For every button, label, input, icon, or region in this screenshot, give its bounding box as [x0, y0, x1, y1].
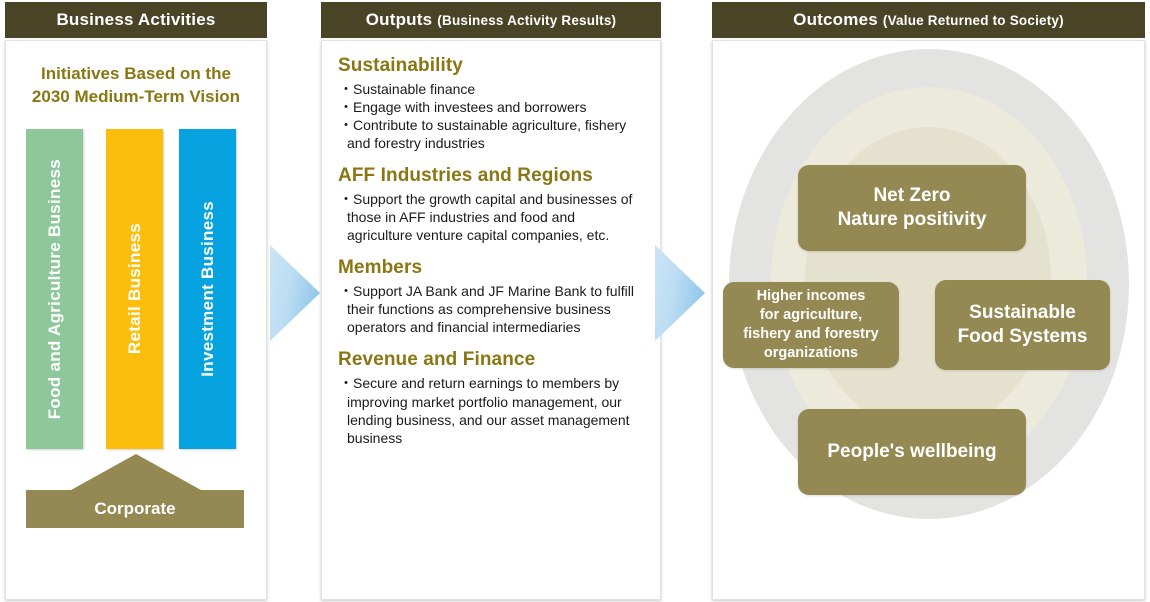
- bullet-item: Engage with investees and borrowers: [339, 98, 644, 116]
- business-activities-body: Initiatives Based on the 2030 Medium-Ter…: [5, 40, 267, 600]
- outcome-box-sustainable-food-systems-line-1: Sustainable: [958, 301, 1088, 325]
- initiatives-title-line-1: Initiatives Based on the: [6, 63, 266, 86]
- outcomes-header-title: Outcomes: [793, 10, 878, 30]
- outcome-box-higher-incomes-line-4: organizations: [743, 344, 878, 363]
- corporate-up-arrow-icon: [71, 454, 201, 490]
- outcome-box-higher-incomes-line-3: fishery and forestry: [743, 325, 878, 344]
- output-section-aff-industries-and-regions-title: AFF Industries and Regions: [338, 165, 644, 187]
- output-section-aff-industries-and-regions: AFF Industries and Regions Support the g…: [338, 165, 644, 244]
- business-bar-food-and-agriculture-label: Food and Agriculture Business: [45, 159, 65, 419]
- business-activities-header: Business Activities: [5, 2, 267, 38]
- outcome-box-net-zero-line-1: Net Zero: [838, 184, 987, 208]
- outputs-header-subtitle: (Business Activity Results): [437, 13, 616, 28]
- output-section-aff-industries-and-regions-body: Support the growth capital and businesse…: [338, 190, 644, 244]
- business-bar-retail-label: Retail Business: [125, 223, 145, 354]
- corporate-bar-label: Corporate: [94, 499, 175, 519]
- business-bar-food-and-agriculture: Food and Agriculture Business: [26, 129, 83, 449]
- outcome-box-sustainable-food-systems: Sustainable Food Systems: [935, 280, 1110, 370]
- outcomes-body: Net Zero Nature positivity Higher income…: [712, 40, 1145, 600]
- bullet-item: Support the growth capital and businesse…: [339, 190, 644, 244]
- business-activities-header-title: Business Activities: [56, 10, 215, 30]
- business-bars-group: Food and Agriculture Business Retail Bus…: [6, 129, 266, 449]
- outputs-header: Outputs (Business Activity Results): [321, 2, 661, 38]
- output-section-members-body: Support JA Bank and JF Marine Bank to fu…: [338, 282, 644, 336]
- outcome-box-net-zero: Net Zero Nature positivity: [798, 165, 1026, 251]
- output-section-sustainability-body: Sustainable finance Engage with investee…: [338, 80, 644, 152]
- output-section-revenue-and-finance-title: Revenue and Finance: [338, 349, 644, 371]
- outcome-box-sustainable-food-systems-line-2: Food Systems: [958, 325, 1088, 349]
- output-section-members-title: Members: [338, 257, 644, 279]
- business-bar-retail: Retail Business: [106, 129, 163, 449]
- output-section-sustainability: Sustainability Sustainable finance Engag…: [338, 55, 644, 152]
- corporate-bar: Corporate: [26, 490, 244, 528]
- outcomes-header-subtitle: (Value Returned to Society): [883, 13, 1064, 28]
- outcome-box-higher-incomes-line-1: Higher incomes: [743, 287, 878, 306]
- bullet-item: Support JA Bank and JF Marine Bank to fu…: [339, 282, 644, 336]
- output-section-members: Members Support JA Bank and JF Marine Ba…: [338, 257, 644, 336]
- outcome-box-peoples-wellbeing-line-1: People's wellbeing: [827, 440, 996, 464]
- outputs-body: Sustainability Sustainable finance Engag…: [321, 40, 661, 600]
- initiatives-title: Initiatives Based on the 2030 Medium-Ter…: [6, 63, 266, 108]
- outcome-box-higher-incomes: Higher incomes for agriculture, fishery …: [723, 282, 899, 368]
- bullet-item: Secure and return earnings to members by…: [339, 374, 644, 446]
- arrow-right-icon-activities-to-outputs: [270, 245, 320, 341]
- output-section-revenue-and-finance-body: Secure and return earnings to members by…: [338, 374, 644, 446]
- output-section-revenue-and-finance: Revenue and Finance Secure and return ea…: [338, 349, 644, 446]
- outcome-box-peoples-wellbeing: People's wellbeing: [798, 409, 1026, 495]
- outcome-box-higher-incomes-line-2: for agriculture,: [743, 306, 878, 325]
- output-section-sustainability-title: Sustainability: [338, 55, 644, 77]
- business-bar-investment-label: Investment Business: [198, 201, 218, 377]
- business-bar-investment: Investment Business: [179, 129, 236, 449]
- arrow-right-icon-outputs-to-outcomes: [655, 245, 705, 341]
- bullet-item: Contribute to sustainable agriculture, f…: [339, 116, 644, 152]
- outcomes-header: Outcomes (Value Returned to Society): [712, 2, 1145, 38]
- initiatives-title-line-2: 2030 Medium-Term Vision: [6, 86, 266, 109]
- outputs-header-title: Outputs: [366, 10, 433, 30]
- bullet-item: Sustainable finance: [339, 80, 644, 98]
- outcome-box-net-zero-line-2: Nature positivity: [838, 208, 987, 232]
